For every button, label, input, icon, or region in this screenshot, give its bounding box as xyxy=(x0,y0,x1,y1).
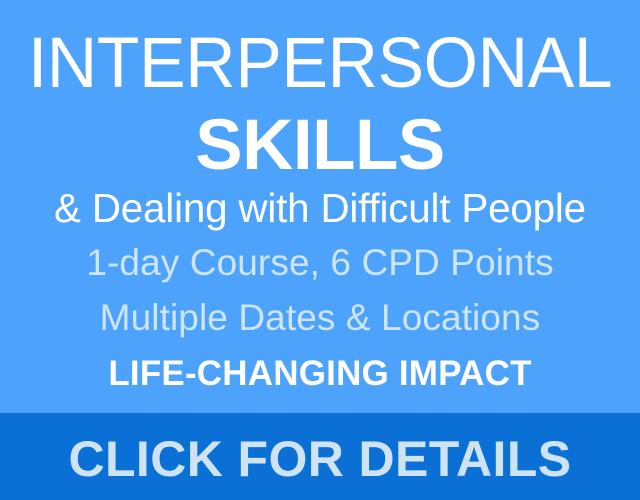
detail-line-dates-locations: Multiple Dates & Locations xyxy=(0,296,640,340)
banner-body-panel: INTERPERSONAL SKILLS & Dealing with Diff… xyxy=(0,0,640,413)
headline-line-1: INTERPERSONAL xyxy=(5,24,635,104)
cta-bar[interactable]: CLICK FOR DETAILS xyxy=(0,413,640,500)
headline-line-2: SKILLS xyxy=(0,106,640,186)
cta-label[interactable]: CLICK FOR DETAILS xyxy=(0,430,640,488)
banner-copy-stack: INTERPERSONAL SKILLS & Dealing with Diff… xyxy=(0,0,640,413)
kicker-tagline: LIFE-CHANGING IMPACT xyxy=(0,353,640,395)
subheadline: & Dealing with Difficult People xyxy=(5,184,635,232)
interpersonal-skills-banner-ad[interactable]: INTERPERSONAL SKILLS & Dealing with Diff… xyxy=(0,0,640,500)
detail-line-course-info: 1-day Course, 6 CPD Points xyxy=(0,241,640,285)
